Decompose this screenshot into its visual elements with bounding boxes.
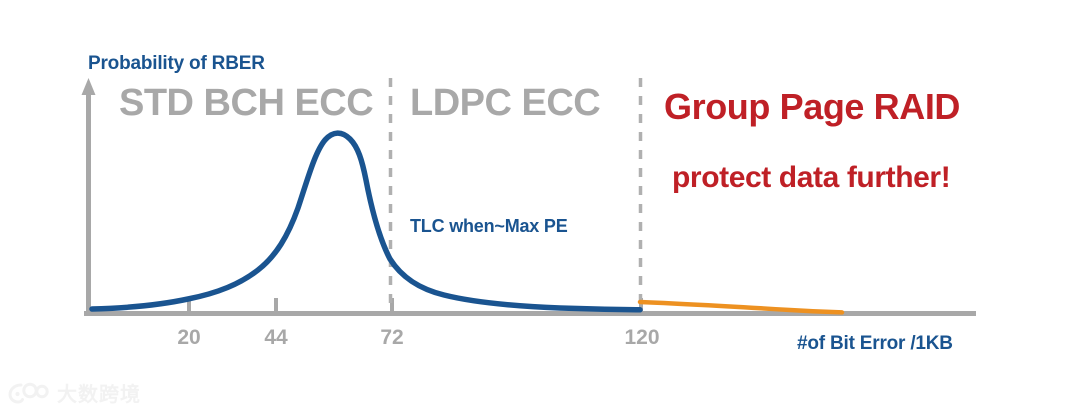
watermark: 大数跨境	[8, 378, 141, 407]
zone-label-ldpc-ecc: LDPC ECC	[410, 84, 600, 122]
x-tick-label-20: 20	[177, 327, 200, 348]
x-tick-label-72: 72	[380, 327, 403, 348]
watermark-text: 大数跨境	[57, 378, 141, 407]
zone-label-std-bch-ecc: STD BCH ECC	[119, 84, 373, 122]
eyes-logo-icon	[8, 382, 50, 404]
x-tick-label-120: 120	[624, 327, 659, 348]
annotation-tlc-max-pe: TLC when~Max PE	[410, 217, 568, 235]
y-axis-title: Probability of RBER	[88, 54, 265, 73]
x-tick-label-44: 44	[264, 327, 287, 348]
raid-tail-curve-orange	[640, 302, 842, 312]
x-axis-title: #of Bit Error /1KB	[797, 334, 953, 353]
callout-subtitle-protect-data: protect data further!	[672, 163, 950, 193]
figure-canvas: Probability of RBER #of Bit Error /1KB S…	[0, 0, 1080, 415]
callout-title-group-page-raid: Group Page RAID	[664, 89, 960, 125]
y-axis-arrow-icon	[82, 78, 96, 95]
